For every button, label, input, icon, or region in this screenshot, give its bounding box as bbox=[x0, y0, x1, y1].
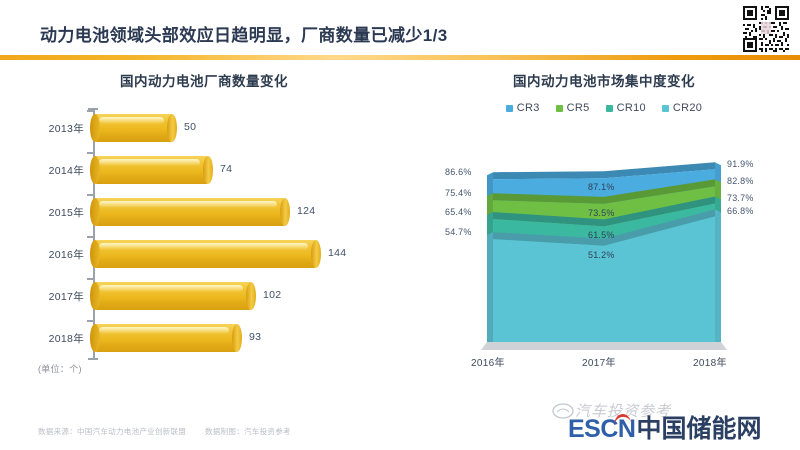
x-axis-label: 2018年 bbox=[693, 354, 727, 369]
legend-label: CR20 bbox=[673, 102, 702, 114]
bar-chart-plot: 2013年502014年742015年1242016年1442017年10220… bbox=[0, 104, 408, 372]
escn-wordmark: ESCN bbox=[568, 417, 635, 442]
value-label-cr20-2018: 66.8% bbox=[727, 206, 754, 216]
bar-cap-left bbox=[90, 198, 100, 226]
bar-row: 2015年124 bbox=[0, 192, 408, 234]
bar-chart-panel: 国内动力电池厂商数量变化 2013年502014年742015年1242016年… bbox=[0, 62, 408, 392]
slide-header: 动力电池领域头部效应日趋明显，厂商数量已减少1/3 bbox=[0, 0, 800, 62]
legend-label: CR3 bbox=[517, 102, 540, 114]
bar-category-label: 2014年 bbox=[0, 163, 84, 178]
legend-item-cr10[interactable]: CR10 bbox=[606, 102, 646, 114]
bar-cylinder[interactable] bbox=[95, 282, 251, 310]
value-label-cr20-2016: 54.7% bbox=[445, 227, 472, 237]
bar-cap-right bbox=[167, 114, 177, 142]
bar-cylinder[interactable] bbox=[95, 324, 237, 352]
series-right-cap bbox=[715, 209, 721, 342]
bar-highlight bbox=[99, 285, 243, 292]
bar-chart-title: 国内动力电池厂商数量变化 bbox=[0, 70, 408, 90]
bar-cap-left bbox=[90, 114, 100, 142]
data-source-note: 数据来源：中国汽车动力电池产业创新联盟 bbox=[38, 426, 186, 437]
bar-row: 2016年144 bbox=[0, 234, 408, 276]
legend-item-cr5[interactable]: CR5 bbox=[556, 102, 590, 114]
legend-item-cr3[interactable]: CR3 bbox=[506, 102, 540, 114]
value-label-cr10-2016: 65.4% bbox=[445, 207, 472, 217]
area-chart-plot: 86.6%87.1%91.9%75.4%73.5%82.8%65.4%61.5%… bbox=[408, 120, 800, 372]
bar-row: 2014年74 bbox=[0, 150, 408, 192]
legend-swatch-icon bbox=[662, 105, 669, 112]
chart-floor bbox=[481, 342, 727, 350]
slide-canvas: 动力电池领域头部效应日趋明显，厂商数量已减少1/3 bbox=[0, 0, 800, 450]
bar-category-label: 2017年 bbox=[0, 289, 84, 304]
value-label-cr20-2017: 51.2% bbox=[588, 250, 615, 260]
bar-cap-right bbox=[246, 282, 256, 310]
bar-cap-right bbox=[203, 156, 213, 184]
bar-highlight bbox=[99, 243, 308, 250]
page-title: 动力电池领域头部效应日趋明显，厂商数量已减少1/3 bbox=[40, 21, 448, 46]
escn-logo: ESCN 中国储能网 bbox=[568, 417, 761, 442]
bar-category-label: 2016年 bbox=[0, 247, 84, 262]
value-label-cr3-2018: 91.9% bbox=[727, 159, 754, 169]
bar-cylinder[interactable] bbox=[95, 114, 172, 142]
bar-cap-left bbox=[90, 282, 100, 310]
value-label-cr3-2016: 86.6% bbox=[445, 167, 472, 177]
value-label-cr5-2017: 73.5% bbox=[588, 208, 615, 218]
area-chart-svg bbox=[408, 120, 800, 372]
bar-cap-right bbox=[311, 240, 321, 268]
bar-row: 2013年50 bbox=[0, 108, 408, 150]
bar-value-label: 144 bbox=[328, 247, 346, 259]
bar-cap-left bbox=[90, 324, 100, 352]
header-accent-bar bbox=[0, 55, 800, 60]
bar-category-label: 2015年 bbox=[0, 205, 84, 220]
bar-highlight bbox=[99, 159, 200, 166]
bar-cap-left bbox=[90, 156, 100, 184]
bar-cylinder[interactable] bbox=[95, 240, 316, 268]
legend-label: CR5 bbox=[567, 102, 590, 114]
data-credit-note: 数据制图：汽车投资参考 bbox=[205, 426, 291, 437]
bar-category-label: 2013年 bbox=[0, 121, 84, 136]
area-chart-panel: 国内动力电池市场集中度变化 CR3CR5CR10CR20 86.6%87.1%9… bbox=[408, 62, 800, 392]
value-label-cr3-2017: 87.1% bbox=[588, 182, 615, 192]
legend-swatch-icon bbox=[506, 105, 513, 112]
x-axis-label: 2017年 bbox=[582, 354, 616, 369]
legend-item-cr20[interactable]: CR20 bbox=[662, 102, 702, 114]
value-label-cr5-2018: 82.8% bbox=[727, 176, 754, 186]
bar-value-label: 102 bbox=[263, 289, 281, 301]
value-label-cr10-2018: 73.7% bbox=[727, 193, 754, 203]
legend-label: CR10 bbox=[617, 102, 646, 114]
value-label-cr10-2017: 61.5% bbox=[588, 230, 615, 240]
bar-highlight bbox=[99, 327, 229, 334]
escn-chinese-name: 中国储能网 bbox=[636, 417, 761, 442]
legend-swatch-icon bbox=[556, 105, 563, 112]
bar-cap-right bbox=[280, 198, 290, 226]
bar-row: 2017年102 bbox=[0, 276, 408, 318]
bar-cylinder[interactable] bbox=[95, 198, 285, 226]
bar-cylinder[interactable] bbox=[95, 156, 208, 184]
bar-value-label: 93 bbox=[249, 331, 261, 343]
bar-highlight bbox=[99, 117, 164, 124]
value-label-cr5-2016: 75.4% bbox=[445, 188, 472, 198]
unit-note: (单位：个) bbox=[38, 362, 82, 375]
x-axis-label: 2016年 bbox=[471, 354, 505, 369]
area-chart-title: 国内动力电池市场集中度变化 bbox=[408, 70, 800, 90]
bar-row: 2018年93 bbox=[0, 318, 408, 360]
bar-cap-right bbox=[232, 324, 242, 352]
bar-value-label: 50 bbox=[184, 121, 196, 133]
qr-code-glyph bbox=[741, 4, 791, 54]
bar-value-label: 74 bbox=[220, 163, 232, 175]
series-left-cap bbox=[487, 232, 493, 342]
escn-swoosh-icon bbox=[613, 413, 632, 428]
bar-category-label: 2018年 bbox=[0, 331, 84, 346]
bar-highlight bbox=[99, 201, 277, 208]
bar-value-label: 124 bbox=[297, 205, 315, 217]
area-chart-legend: CR3CR5CR10CR20 bbox=[408, 102, 800, 114]
bar-cap-left bbox=[90, 240, 100, 268]
legend-swatch-icon bbox=[606, 105, 613, 112]
qr-code-icon[interactable] bbox=[740, 3, 792, 55]
